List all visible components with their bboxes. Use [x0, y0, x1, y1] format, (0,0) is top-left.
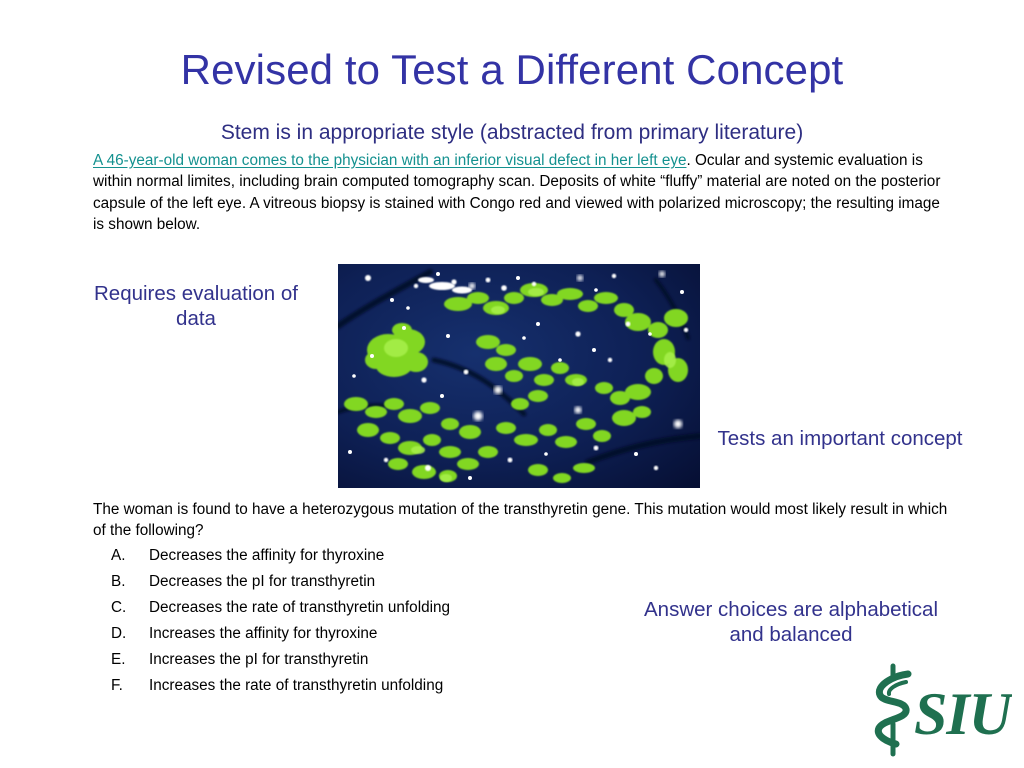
- answer-choice-text: Decreases the affinity for thyroxine: [149, 547, 793, 565]
- annotation-answer-choices-balanced: Answer choices are alphabetical and bala…: [628, 597, 954, 647]
- answer-choice-letter: F.: [93, 677, 149, 695]
- answer-choice-letter: E.: [93, 651, 149, 669]
- page-title: Revised to Test a Different Concept: [0, 47, 1024, 92]
- answer-choice-letter: A.: [93, 547, 149, 565]
- answer-choice-e[interactable]: E. Increases the pI for transthyretin: [93, 651, 793, 677]
- annotation-tests-important-concept: Tests an important concept: [700, 426, 980, 451]
- caduceus-icon: [878, 666, 908, 754]
- clinical-stem-paragraph: A 46-year-old woman comes to the physici…: [93, 150, 949, 235]
- slide-subtitle: Stem is in appropriate style (abstracted…: [0, 120, 1024, 145]
- micrograph-svg: [338, 264, 700, 488]
- answer-choice-letter: D.: [93, 625, 149, 643]
- answer-choice-f[interactable]: F. Increases the rate of transthyretin u…: [93, 677, 793, 703]
- answer-choice-letter: C.: [93, 599, 149, 617]
- answer-choice-b[interactable]: B. Decreases the pI for transthyretin: [93, 573, 793, 599]
- micrograph-image: [338, 264, 700, 488]
- answer-choice-a[interactable]: A. Decreases the affinity for thyroxine: [93, 547, 793, 573]
- siu-logo-text: SIU: [914, 681, 1012, 747]
- siu-logo-svg: SIU: [862, 662, 1012, 760]
- question-stem: The woman is found to have a heterozygou…: [93, 499, 953, 542]
- answer-choice-text: Increases the rate of transthyretin unfo…: [149, 677, 793, 695]
- answer-choice-text: Increases the pI for transthyretin: [149, 651, 793, 669]
- stem-lead-sentence: A 46-year-old woman comes to the physici…: [93, 152, 686, 169]
- siu-logo: SIU: [862, 662, 1012, 760]
- annotation-requires-evaluation: Requires evaluation of data: [72, 281, 320, 331]
- answer-choice-text: Decreases the pI for transthyretin: [149, 573, 793, 591]
- answer-choice-letter: B.: [93, 573, 149, 591]
